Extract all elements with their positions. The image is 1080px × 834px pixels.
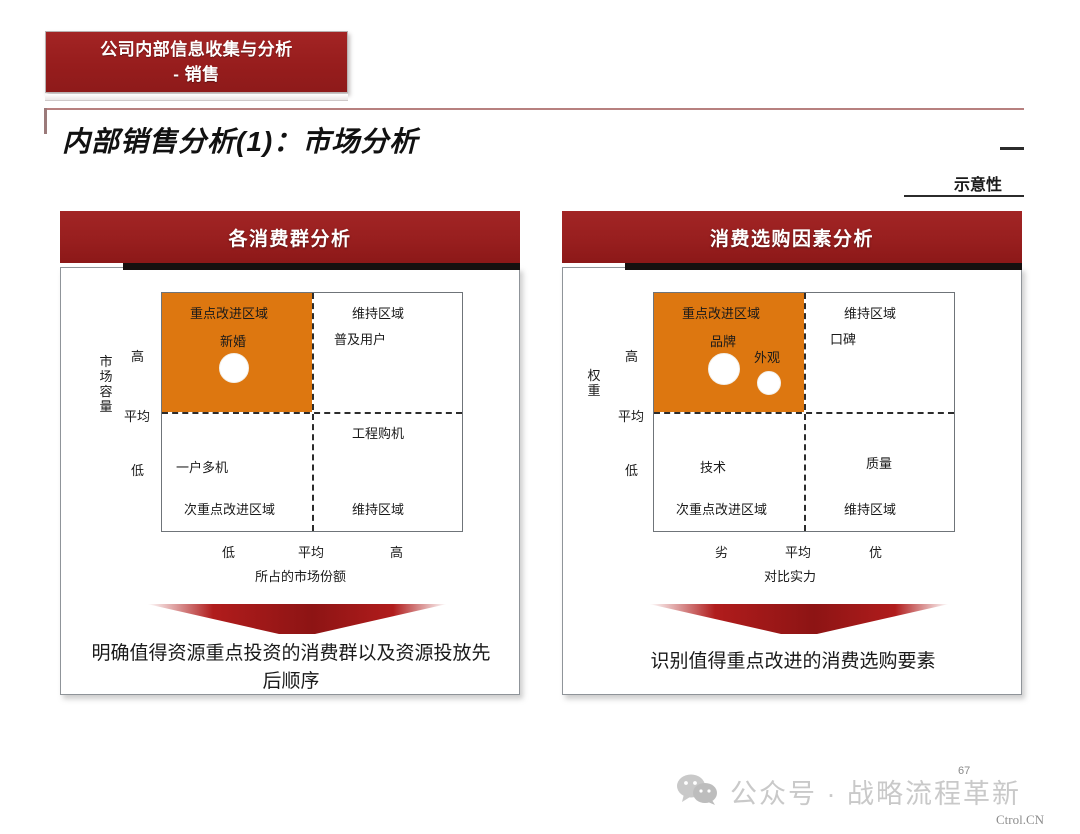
item-label-yihu: 一户多机 bbox=[176, 457, 228, 476]
matrix-right: 重点改进区域 品牌 外观 维持区域 口碑 技术 次重点改进区域 质量 维持区域 bbox=[653, 292, 955, 532]
x-tick-avg-left: 平均 bbox=[298, 542, 324, 561]
item-label-koubei: 口碑 bbox=[830, 329, 856, 348]
panel-body-right: 权重 高 平均 低 重点改进区域 品牌 外观 维持区域 口碑 技术 次重点改进区… bbox=[562, 267, 1022, 695]
x-tick-poor-right: 劣 bbox=[715, 542, 728, 561]
quadrant-label-top-left-right: 重点改进区域 bbox=[682, 303, 760, 322]
kicker-banner: 公司内部信息收集与分析 - 销售 bbox=[45, 31, 348, 93]
x-tick-low-left: 低 bbox=[222, 542, 235, 561]
bubble-xinhun bbox=[219, 353, 249, 383]
title-divider-rule bbox=[44, 108, 1024, 110]
kicker-line-2: - 销售 bbox=[173, 62, 219, 87]
y-axis-title-left: 市场容量 bbox=[99, 354, 113, 414]
conclusion-text-right: 识别值得重点改进的消费选购要素 bbox=[591, 648, 995, 676]
panel-header-right: 消费选购因素分析 bbox=[562, 211, 1022, 263]
panel-title-right: 消费选购因素分析 bbox=[710, 224, 874, 251]
y-axis-title-right: 权重 bbox=[587, 368, 601, 398]
watermark: 公众号 · 战略流程革新 bbox=[676, 772, 1021, 811]
y-tick-avg-right: 平均 bbox=[618, 406, 644, 425]
quadrant-label-top-left-left: 重点改进区域 bbox=[190, 303, 268, 322]
watermark-text: 公众号 · 战略流程革新 bbox=[730, 772, 1021, 811]
illustrative-dash-mark bbox=[1000, 147, 1024, 150]
kicker-line-1: 公司内部信息收集与分析 bbox=[100, 37, 293, 62]
wechat-icon bbox=[676, 773, 718, 810]
slide-canvas: 公司内部信息收集与分析 - 销售 内部销售分析(1)：市场分析 示意性 各消费群… bbox=[0, 0, 1080, 834]
panel-body-left: 市场容量 高 平均 低 重点改进区域 新婚 维持区域 普及用户 工程购机 bbox=[60, 267, 520, 695]
kicker-banner-underline bbox=[45, 94, 348, 101]
y-tick-high-left: 高 bbox=[131, 346, 144, 365]
y-tick-low-left: 低 bbox=[131, 460, 144, 479]
quadrant-label-top-right-left: 维持区域 bbox=[352, 303, 404, 322]
item-label-gongcheng: 工程购机 bbox=[352, 423, 404, 442]
y-tick-avg-left: 平均 bbox=[124, 406, 150, 425]
quadrant-label-bottom-left-right: 次重点改进区域 bbox=[676, 499, 767, 518]
x-tick-avg-right: 平均 bbox=[785, 542, 811, 561]
down-arrow-left bbox=[147, 598, 447, 638]
quadrant-label-top-right-right: 维持区域 bbox=[844, 303, 896, 322]
item-label-waiguan: 外观 bbox=[754, 347, 780, 366]
matrix-horizontal-divider-right bbox=[654, 412, 954, 414]
down-arrow-right bbox=[649, 598, 949, 638]
item-label-puji: 普及用户 bbox=[334, 329, 386, 348]
bubble-waiguan bbox=[757, 371, 781, 395]
page-number: 67 bbox=[958, 765, 970, 777]
quadrant-label-bottom-left-left: 次重点改进区域 bbox=[184, 499, 275, 518]
item-label-pinpai: 品牌 bbox=[710, 331, 736, 350]
panel-consumer-group-analysis: 各消费群分析 市场容量 高 平均 低 重点改进区域 新婚 维持区域 普及用户 bbox=[60, 211, 520, 695]
quadrant-label-bottom-right-left: 维持区域 bbox=[352, 499, 404, 518]
x-axis-title-left: 所占的市场份额 bbox=[255, 566, 346, 585]
x-axis-title-right: 对比实力 bbox=[764, 566, 816, 585]
item-label-xinhun: 新婚 bbox=[220, 331, 246, 350]
quadrant-label-bottom-right-right: 维持区域 bbox=[844, 499, 896, 518]
panel-header-shadow-left bbox=[123, 263, 520, 270]
panel-purchase-factor-analysis: 消费选购因素分析 权重 高 平均 低 重点改进区域 品牌 外观 维持区域 口碑 bbox=[562, 211, 1022, 695]
panel-header-left: 各消费群分析 bbox=[60, 211, 520, 263]
conclusion-text-left: 明确值得资源重点投资的消费群以及资源投放先后顺序 bbox=[89, 640, 493, 696]
illustrative-underline bbox=[904, 195, 1024, 197]
x-tick-high-left: 高 bbox=[390, 542, 403, 561]
bubble-pinpai bbox=[708, 353, 740, 385]
y-tick-low-right: 低 bbox=[625, 460, 638, 479]
page-title: 内部销售分析(1)：市场分析 bbox=[62, 120, 418, 160]
matrix-left: 重点改进区域 新婚 维持区域 普及用户 工程购机 一户多机 次重点改进区域 维持… bbox=[161, 292, 463, 532]
item-label-jishu: 技术 bbox=[700, 457, 726, 476]
item-label-zhiliang: 质量 bbox=[866, 453, 892, 472]
panel-header-shadow-right bbox=[625, 263, 1022, 270]
title-divider-tick bbox=[44, 108, 47, 134]
matrix-horizontal-divider-left bbox=[162, 412, 462, 414]
illustrative-label: 示意性 bbox=[954, 171, 1002, 195]
y-tick-high-right: 高 bbox=[625, 346, 638, 365]
x-tick-good-right: 优 bbox=[869, 542, 882, 561]
panel-title-left: 各消费群分析 bbox=[228, 224, 351, 251]
brand-tag: Ctrol.CN bbox=[996, 812, 1044, 828]
